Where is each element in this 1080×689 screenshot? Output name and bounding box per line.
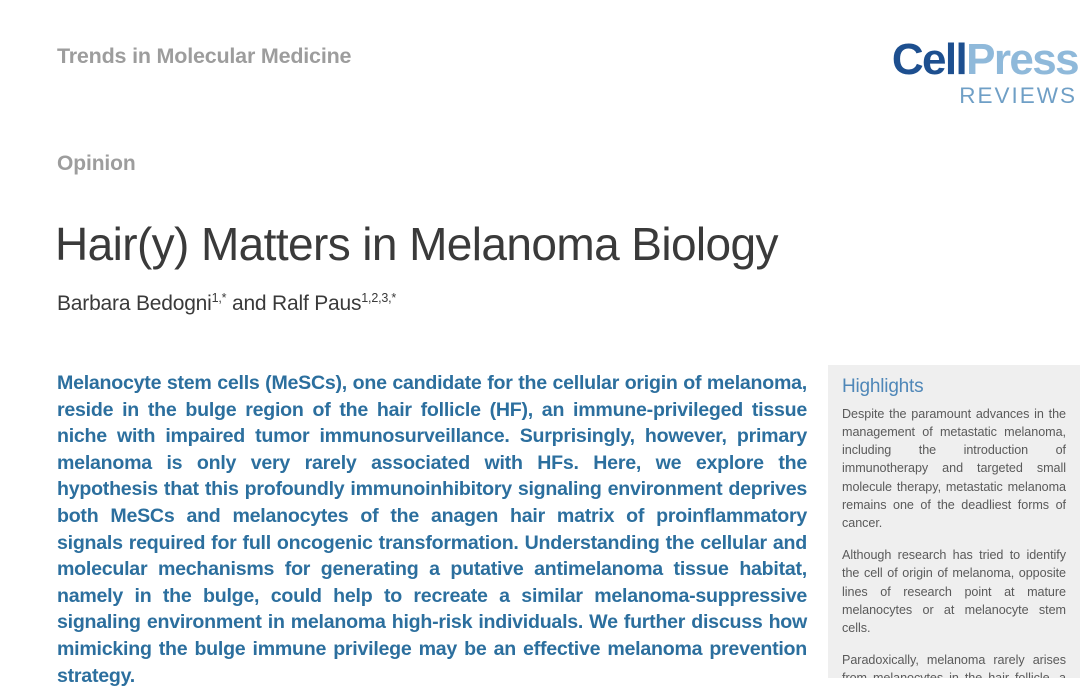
cell-press-wordmark: CellPress [878, 38, 1078, 82]
author-affiliation-2: 1,2,3,* [361, 291, 396, 305]
logo-reviews-text: REVIEWS [878, 85, 1078, 108]
highlights-paragraph: Despite the paramount advances in the ma… [842, 405, 1066, 532]
journal-name: Trends in Molecular Medicine [57, 44, 351, 69]
highlights-title: Highlights [842, 376, 1066, 399]
author-conjunction: and [226, 292, 272, 315]
author-list: Barbara Bedogni1,* and Ralf Paus1,2,3,* [57, 292, 396, 316]
highlights-paragraph: Although research has tried to identify … [842, 546, 1066, 637]
author-name-1: Barbara Bedogni [57, 292, 212, 315]
author-affiliation-1: 1,* [212, 291, 227, 305]
logo-cell-text: Cell [892, 35, 966, 84]
abstract-text: Melanocyte stem cells (MeSCs), one candi… [57, 370, 807, 689]
article-type-label: Opinion [57, 152, 136, 176]
highlights-paragraph: Paradoxically, melanoma rarely arises fr… [842, 651, 1066, 678]
author-name-2: Ralf Paus [272, 292, 361, 315]
page-title: Hair(y) Matters in Melanoma Biology [55, 217, 778, 271]
highlights-panel: Highlights Despite the paramount advance… [828, 365, 1080, 678]
logo-press-text: Press [966, 35, 1078, 84]
highlights-body: Despite the paramount advances in the ma… [842, 405, 1066, 678]
cell-press-reviews-logo: CellPress REVIEWS [878, 38, 1078, 108]
